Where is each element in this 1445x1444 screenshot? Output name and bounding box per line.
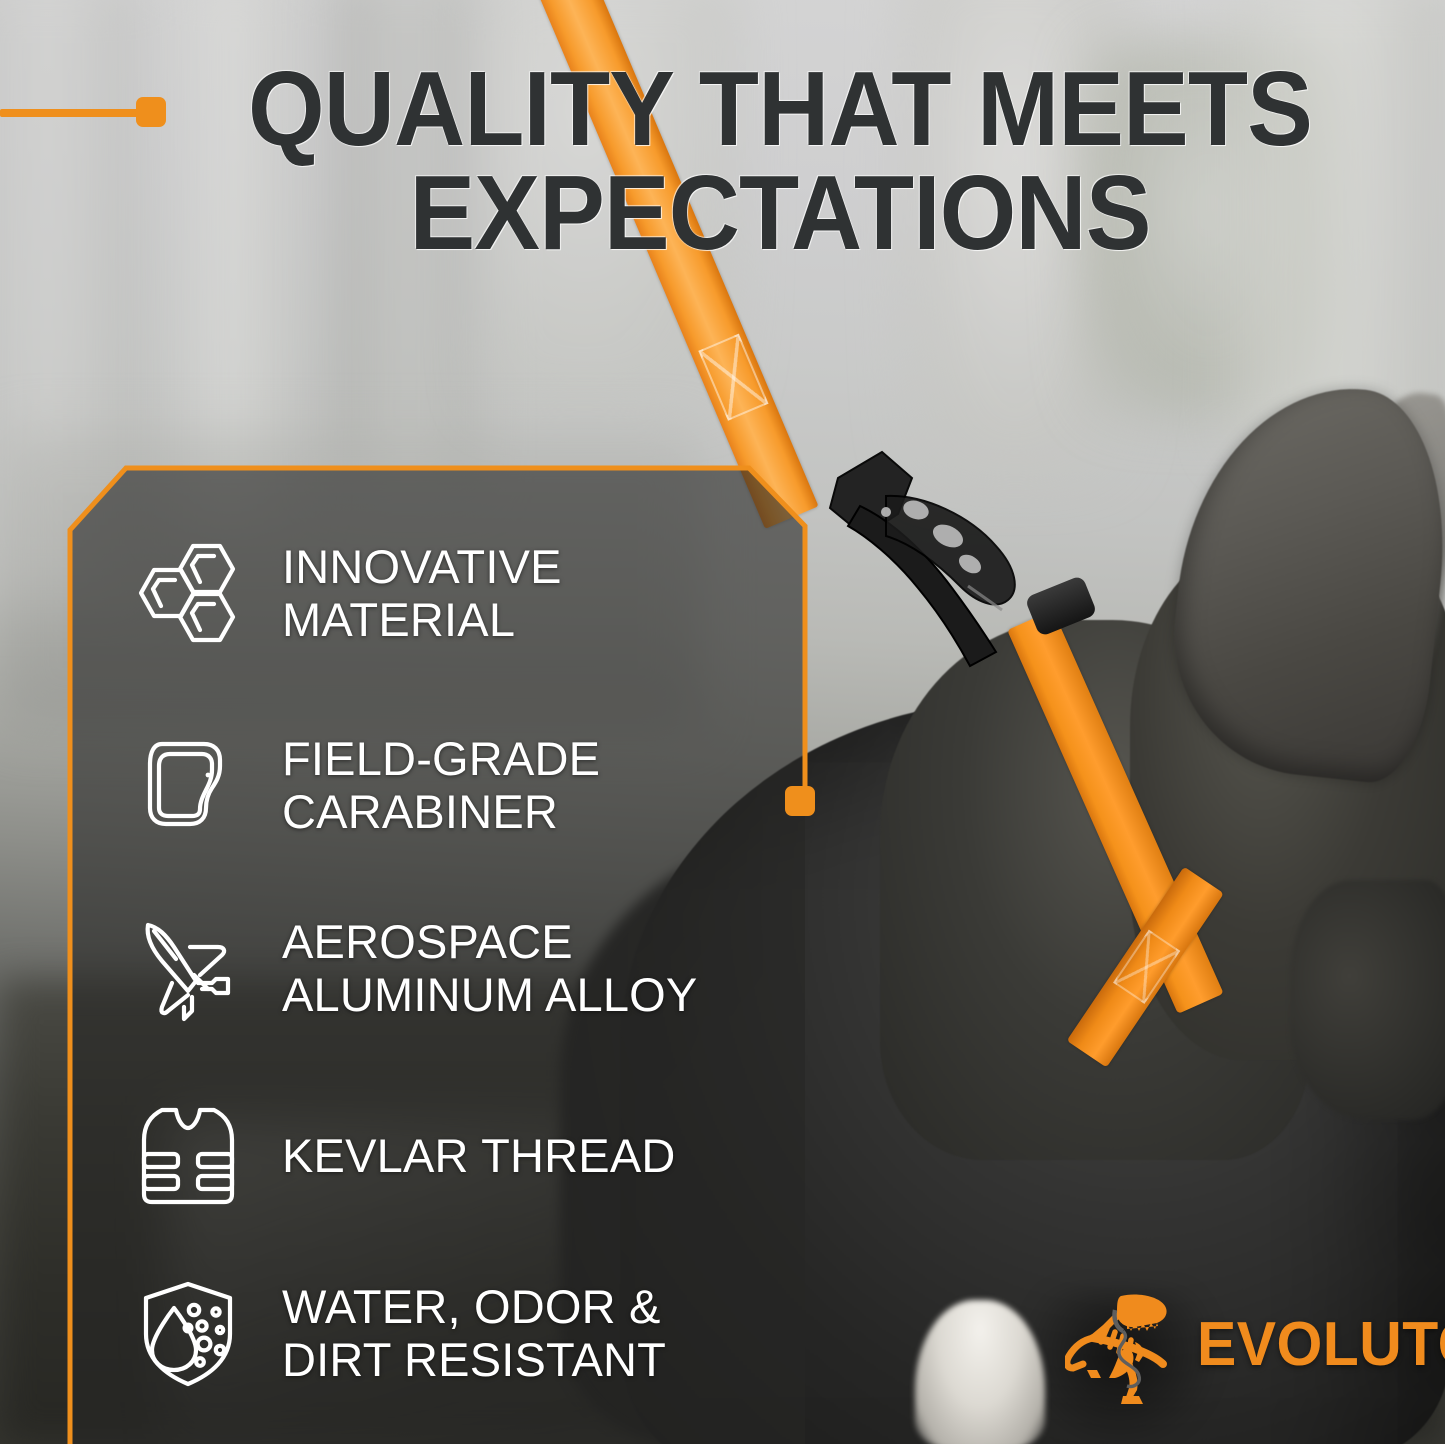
fighter-jet-icon [132,913,244,1025]
page-title: QUALITY THAT MEETS EXPECTATIONS [194,58,1366,370]
headline-accent-square [136,97,166,127]
brand-logo: EVOLUTOR [1065,1282,1445,1407]
water-repellent-shield-icon [132,1278,244,1390]
feature-label: INNOVATIVE MATERIAL [282,541,562,646]
headline-line-2: EXPECTATIONS [194,162,1366,266]
feature-item-aerospace-aluminum-alloy: AEROSPACE ALUMINUM ALLOY [132,913,792,1025]
feature-item-water-odor-dirt-resistant: WATER, ODOR & DIRT RESISTANT [132,1278,792,1390]
snap-hook-carabiner-icon [820,440,1120,690]
brand-name: EVOLUTOR [1197,1309,1445,1380]
feature-item-innovative-material: INNOVATIVE MATERIAL [132,538,792,650]
body-armor-vest-icon [132,1100,244,1212]
feature-item-kevlar-thread: KEVLAR THREAD [132,1100,792,1212]
headline-line-1: QUALITY THAT MEETS [248,50,1312,168]
product-feature-graphic: QUALITY THAT MEETS EXPECTATIONS [0,0,1445,1444]
feature-label: FIELD-GRADE CARABINER [282,733,600,838]
feature-label: KEVLAR THREAD [282,1130,676,1183]
headline-accent-line [0,109,146,117]
honeycomb-icon [132,538,244,650]
carabiner-icon [132,730,244,842]
feature-item-field-grade-carabiner: FIELD-GRADE CARABINER [132,730,792,842]
dog-snout [1290,880,1445,1120]
feature-label: WATER, ODOR & DIRT RESISTANT [282,1281,666,1386]
trex-skeleton-icon [1065,1282,1195,1407]
feature-label: AEROSPACE ALUMINUM ALLOY [282,916,697,1021]
